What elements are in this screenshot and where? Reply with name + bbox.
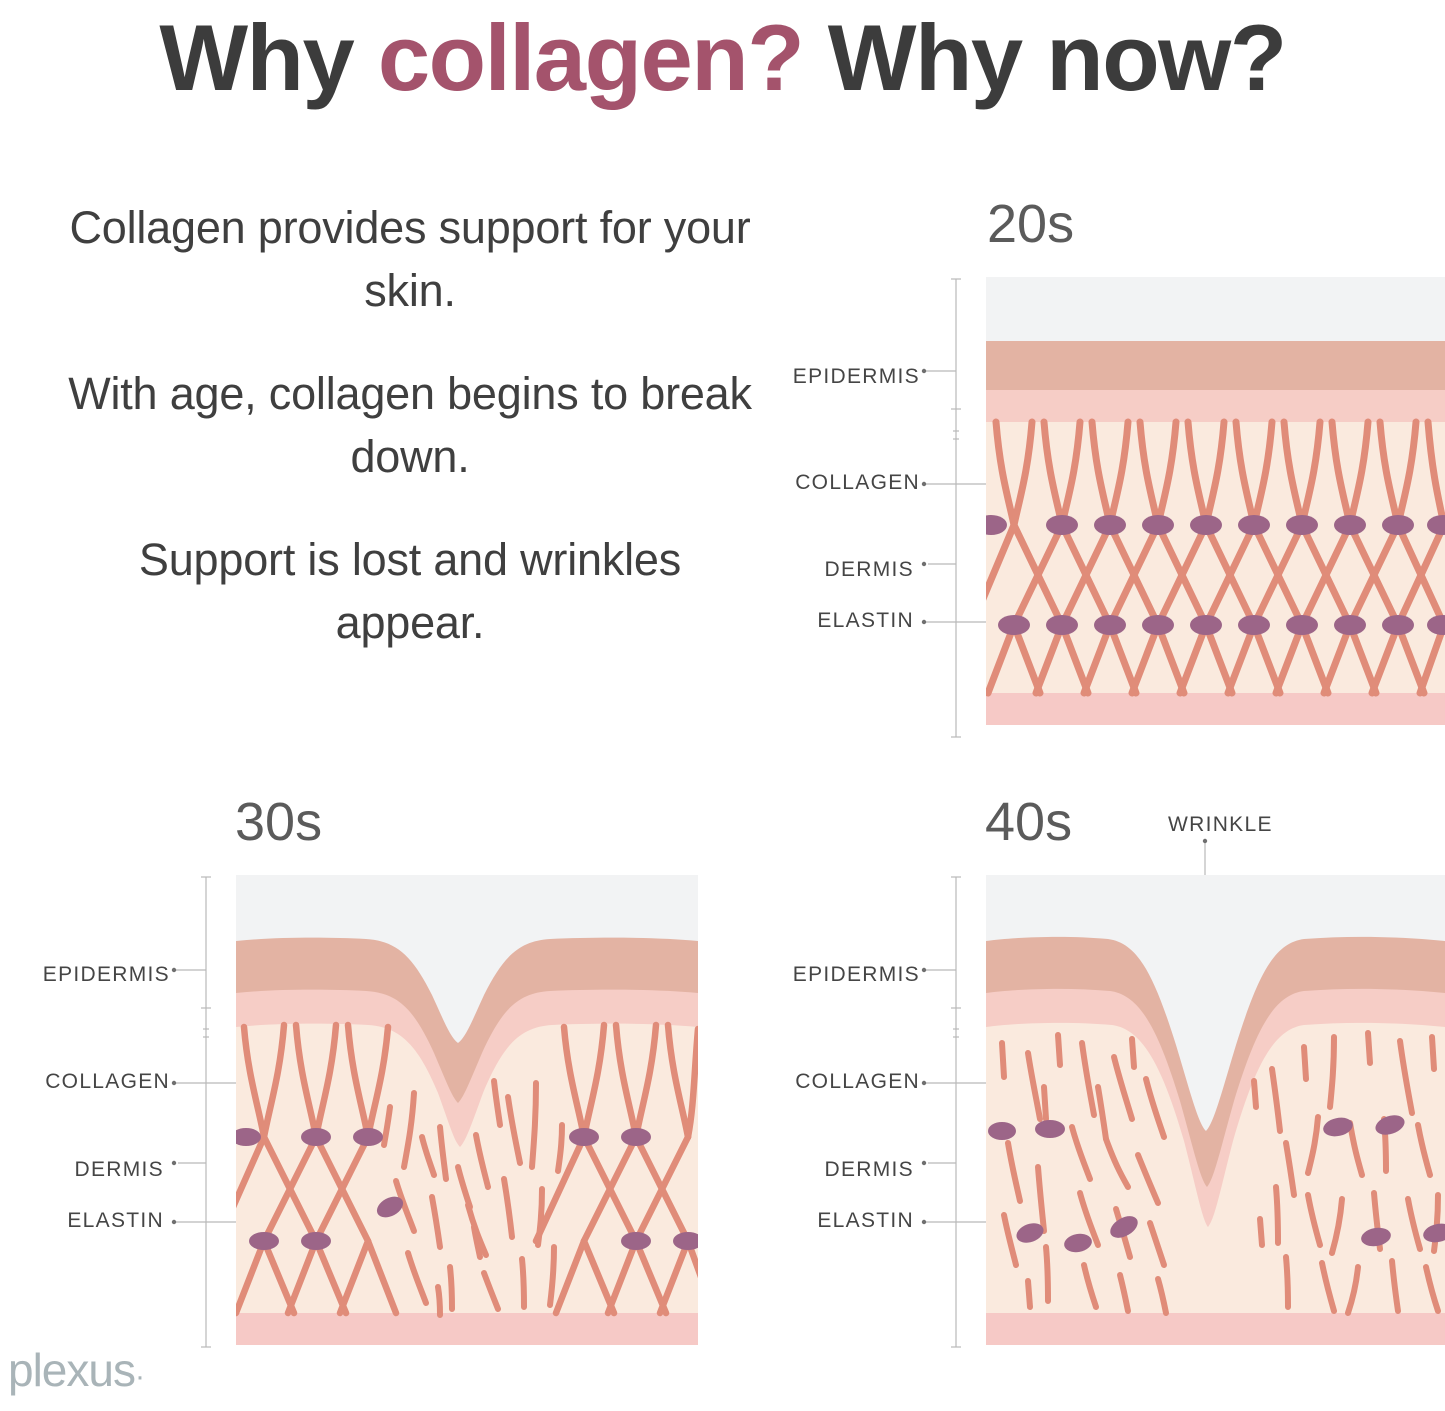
label-epidermis: EPIDERMIS [790,365,920,389]
label-epidermis: EPIDERMIS [40,963,170,987]
label-elastin: ELASTIN [790,1209,914,1233]
label-dermis: DERMIS [790,1158,914,1182]
label-collagen: COLLAGEN [40,1070,170,1094]
copy-paragraph-3: Support is lost and wrinkles appear. [60,528,760,654]
title-accent: collagen? [378,5,803,110]
body-copy: Collagen provides support for your skin.… [60,196,760,654]
skin-cross-section-20s [986,277,1445,725]
skin-cross-section-40s [986,875,1445,1345]
panel-40s: 40s WRINKLE EPIDERMIS COLLAGEN DERMIS EL… [790,785,1445,1355]
brand-logo: plexus· [8,1343,144,1397]
label-elastin: ELASTIN [40,1209,164,1233]
label-elastin: ELASTIN [790,609,914,633]
copy-paragraph-1: Collagen provides support for your skin. [60,196,760,322]
label-epidermis: EPIDERMIS [790,963,920,987]
panel-20s: 20s EPIDERMIS COLLAGEN DERMIS ELASTIN [790,185,1445,740]
panel-20s-heading: 20s [987,193,1074,255]
label-collagen: COLLAGEN [790,471,920,495]
title-part-2: Why now? [803,5,1286,110]
brand-logo-dot: · [135,1360,144,1393]
label-wrinkle: WRINKLE [1168,813,1273,837]
title-part-1: Why [159,5,378,110]
copy-paragraph-2: With age, collagen begins to break down. [60,362,760,488]
page-title: Why collagen? Why now? [0,4,1445,112]
panel-30s-heading: 30s [235,791,322,853]
panel-30s: 30s EPIDERMIS COLLAGEN DERMIS ELASTIN [40,785,710,1355]
brand-logo-text: plexus [8,1344,135,1396]
skin-cross-section-30s [236,875,698,1345]
label-dermis: DERMIS [790,558,914,582]
label-dermis: DERMIS [40,1158,164,1182]
panel-40s-heading: 40s [985,791,1072,853]
label-collagen: COLLAGEN [790,1070,920,1094]
